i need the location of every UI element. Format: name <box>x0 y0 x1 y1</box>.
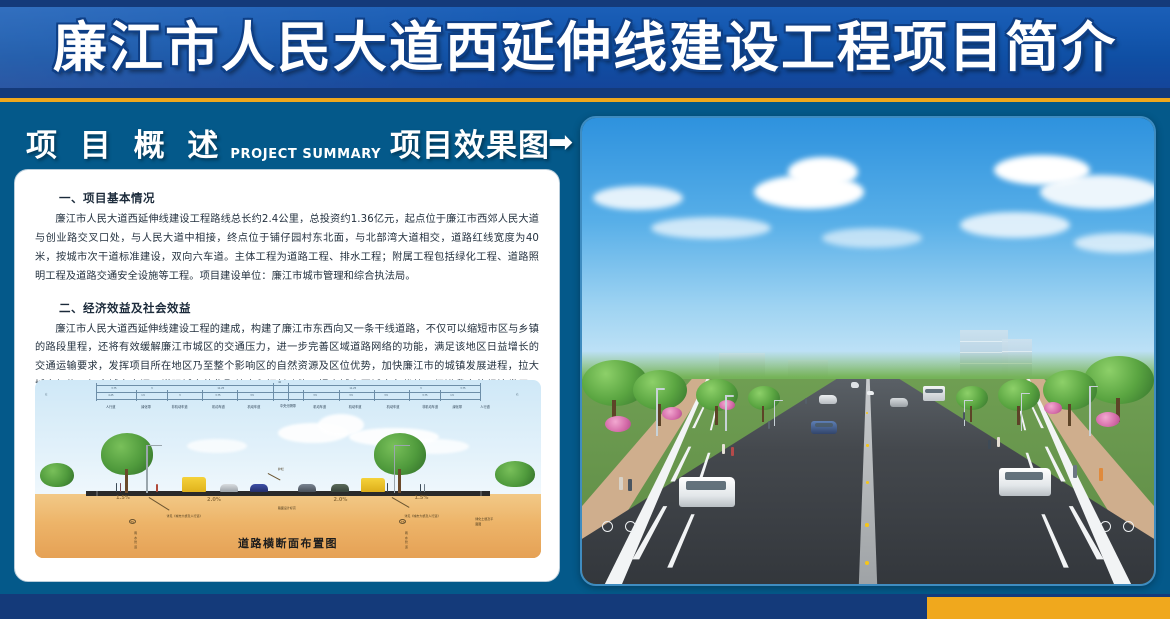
cyclist-left <box>156 484 157 492</box>
street-lamp <box>1021 393 1023 431</box>
shrub-far-right <box>495 461 535 493</box>
bicycle-lane-icon-right <box>1123 521 1134 532</box>
cell-label-0: 人行道 <box>106 404 116 409</box>
note-center: 路面设计标高 <box>278 506 296 510</box>
dimension-lower-6: 3.5 <box>349 394 353 397</box>
vehicle-bus <box>923 386 945 401</box>
vehicle-car-4 <box>331 484 349 492</box>
roadside-tree <box>956 386 988 422</box>
dimension-lower-5: 3.5 <box>314 394 318 397</box>
cross-section-caption: 道路横断面布置图 <box>35 535 541 551</box>
cell-label-9: 机动车道 <box>387 404 400 409</box>
street-lamp <box>656 388 658 436</box>
summary-heading-en: PROJECT SUMMARY <box>230 147 381 162</box>
vehicle-far-truck <box>851 382 859 388</box>
edge-label-right: 右 <box>516 392 518 396</box>
dimension-total: 40 <box>278 381 281 384</box>
vehicle-far-car <box>867 391 874 395</box>
vehicle-car-1 <box>220 484 238 492</box>
pedestrian-4 <box>420 484 421 492</box>
dimension-upper-1: 3 <box>151 387 152 390</box>
edge-label-left: 左 <box>45 392 47 396</box>
vehicle-car-3 <box>298 484 316 492</box>
section-heading-summary: 项 目 概 述 PROJECT SUMMARY <box>26 120 381 165</box>
project-rendering-photo <box>580 116 1156 586</box>
summary-card: 一、项目基本情况 廉江市人民大道西延伸线建设工程路线总长约2.4公里，总投资约1… <box>14 169 560 582</box>
cell-label-3: 机动车道 <box>212 404 225 409</box>
poster-title: 廉江市人民大道西延伸线建设工程项目简介 <box>0 21 1170 75</box>
bicycle-lane-icon-left <box>625 521 636 532</box>
shrub-far-left <box>40 463 74 493</box>
roadside-tree <box>998 379 1040 425</box>
dimension-lower-7: 3.5 <box>384 394 388 397</box>
cyclist <box>722 444 725 454</box>
dimension-lower-4: 3.5 <box>250 394 254 397</box>
dimension-lower-0: 4.25 <box>109 394 114 397</box>
cross-section-figure: 40 3.75 3 11.25 11.25 3 3.75 4.25 1.5 3 … <box>35 380 541 558</box>
article-1-body: 廉江市人民大道西延伸线建设工程路线总长约2.4公里，总投资约1.36亿元，起点位… <box>35 211 539 287</box>
dimension-lower-9: 1.5 <box>450 394 454 397</box>
kerb-right <box>480 491 482 497</box>
cell-label-1: 绿化带 <box>141 404 151 409</box>
arrow-right-icon: ➡ <box>548 128 573 158</box>
median-marker <box>865 561 869 565</box>
note-guardrail: 护栏 <box>278 467 284 471</box>
slope-mid-right: 2.0% <box>334 497 348 503</box>
body-area: 项 目 概 述 PROJECT SUMMARY 项目效果图 ➡ 一、项目基本情况… <box>0 102 1170 594</box>
dimension-lower-2: 3 <box>179 394 180 397</box>
pedestrian <box>1099 468 1103 481</box>
photo-sky <box>582 118 1154 379</box>
vehicle-bus-left <box>182 477 206 492</box>
vehicle-white-suv-right <box>999 468 1051 496</box>
street-lamp <box>725 395 727 431</box>
median-marker <box>865 523 869 527</box>
median-marker <box>866 444 868 446</box>
banner-top-strip <box>0 0 1170 7</box>
roadside-tree <box>748 386 780 422</box>
flowering-shrub <box>662 407 682 420</box>
cell-label-12: 人行道 <box>480 404 490 409</box>
dimension-upper-0: 3.75 <box>111 387 116 390</box>
vehicle-silver-car <box>819 395 837 404</box>
dimension-upper-3: 11.25 <box>349 387 356 390</box>
section-heading-render: 项目效果图 ➡ <box>390 120 573 165</box>
vehicle-car-2 <box>250 484 268 492</box>
pedestrian <box>619 477 623 490</box>
cell-label-8: 机动车道 <box>349 404 362 409</box>
article-2-heading: 二、经济效益及社会效益 <box>59 300 539 316</box>
note-far-right: 绿化土壤及平面图 <box>475 517 495 526</box>
pedestrian-5 <box>424 484 425 492</box>
cyclist <box>768 421 770 429</box>
cell-label-10: 非机动车道 <box>422 404 438 409</box>
title-banner: 廉江市人民大道西延伸线建设工程项目简介 <box>0 7 1170 88</box>
slope-left: 1.5% <box>116 495 130 501</box>
cell-label-7: 机动车道 <box>313 404 326 409</box>
roadside-tree-left <box>101 433 153 493</box>
dimension-lower-8: 3.75 <box>422 394 427 397</box>
cell-label-6: 中央分隔带 <box>280 404 284 408</box>
slope-mid-left: 2.0% <box>207 497 221 503</box>
banner-bottom-strip <box>0 88 1170 98</box>
poster-root: 廉江市人民大道西延伸线建设工程项目简介 项 目 概 述 PROJECT SUMM… <box>0 0 1170 619</box>
street-lamp-right <box>394 445 395 493</box>
dimension-upper-4: 3 <box>420 387 421 390</box>
street-lamp <box>774 400 775 426</box>
pedestrian <box>805 398 807 404</box>
vehicle-grey-car <box>890 398 908 407</box>
pedestrian-3 <box>387 483 388 492</box>
flowering-shrub <box>1096 412 1120 427</box>
cyclist <box>997 437 1000 447</box>
vehicle-bus-right <box>361 478 385 492</box>
pedestrian <box>963 412 965 420</box>
render-heading-cn: 项目效果图 <box>390 120 550 165</box>
cell-label-11: 绿化带 <box>452 404 462 409</box>
dimension-upper-5: 3.75 <box>460 387 465 390</box>
pipe-marker-left: TS <box>129 519 136 524</box>
slope-right: 1.5% <box>415 495 429 501</box>
summary-heading-cn: 项 目 概 述 <box>26 120 224 165</box>
kerb-left <box>96 491 98 497</box>
note-left: 详见《城市大桥及人行道》 <box>167 514 203 518</box>
pedestrian <box>628 479 632 491</box>
footer-accent-block <box>927 597 1170 619</box>
vehicle-white-suv-left <box>679 477 735 507</box>
dimension-lower-3: 3.75 <box>215 394 220 397</box>
vehicle-blue-car <box>811 421 837 434</box>
note-right: 详见《城市大桥及人行道》 <box>404 514 440 518</box>
street-lamp-left <box>146 445 147 493</box>
dimension-upper-2: 11.25 <box>218 387 225 390</box>
cyclist <box>988 440 991 449</box>
cell-label-2: 非机动车道 <box>172 404 188 409</box>
cyclist <box>731 447 734 456</box>
street-lamp <box>1089 386 1091 436</box>
article-1-heading: 一、项目基本情况 <box>59 190 539 206</box>
dimension-lower-1: 1.5 <box>141 394 145 397</box>
pedestrian <box>1073 465 1077 478</box>
cell-label-4: 机动车道 <box>248 404 261 409</box>
